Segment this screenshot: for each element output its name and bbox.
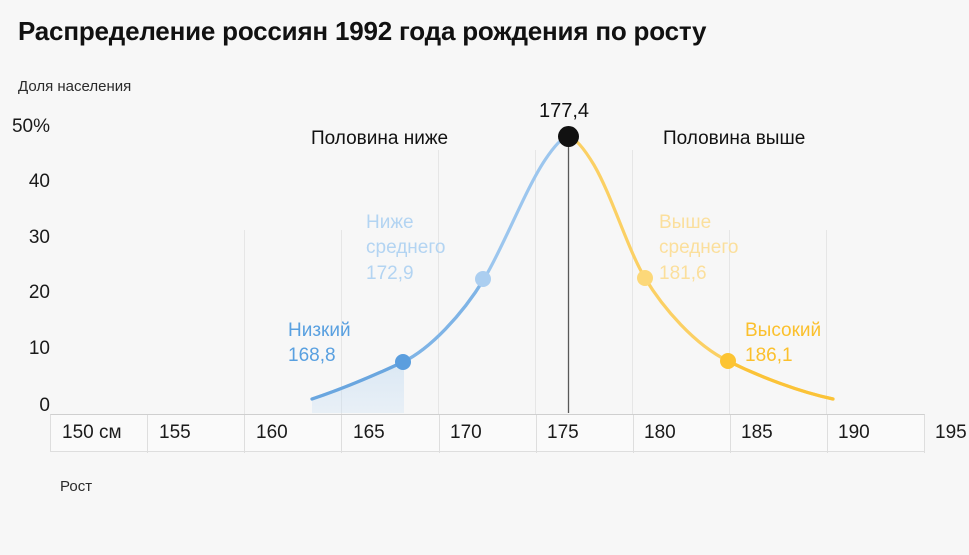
- x-tick-185: 185: [741, 422, 773, 444]
- marker-dot-above-average: [637, 270, 653, 286]
- x-axis-separator: [341, 415, 342, 453]
- x-axis-separator: [924, 415, 925, 453]
- curve-below-average-accent: [403, 279, 484, 362]
- x-tick-160: 160: [256, 422, 288, 444]
- annotation-half-below: Половина ниже: [311, 126, 448, 151]
- x-axis-separator: [147, 415, 148, 453]
- annotation-high: Высокий 186,1: [745, 318, 821, 369]
- annotation-low-value: 168,8: [288, 343, 351, 368]
- x-tick-155: 155: [159, 422, 191, 444]
- annotation-above-average: Выше среднего 181,6: [659, 210, 738, 286]
- annotation-low-label: Низкий: [288, 318, 351, 343]
- marker-dot-low: [395, 354, 411, 370]
- x-axis-caption: Рост: [60, 478, 92, 495]
- x-axis-separator: [439, 415, 440, 453]
- annotation-below-average: Ниже среднего 172,9: [366, 210, 445, 286]
- x-tick-170: 170: [450, 422, 482, 444]
- annotation-high-value: 186,1: [745, 343, 821, 368]
- x-tick-195: 195: [935, 422, 967, 444]
- annotation-high-label: Высокий: [745, 318, 821, 343]
- annotation-half-above: Половина выше: [663, 126, 805, 151]
- annotation-above-average-line1: Выше: [659, 210, 738, 235]
- annotation-below-average-value: 172,9: [366, 261, 445, 286]
- annotation-below-average-line2: среднего: [366, 235, 445, 260]
- x-tick-165: 165: [353, 422, 385, 444]
- marker-dot-median: [558, 126, 579, 147]
- annotation-median-value: 177,4: [539, 98, 589, 125]
- x-axis-separator: [730, 415, 731, 453]
- x-tick-150: 150 см: [62, 422, 122, 444]
- x-tick-175: 175: [547, 422, 579, 444]
- x-axis-separator: [244, 415, 245, 453]
- annotation-below-average-line1: Ниже: [366, 210, 445, 235]
- x-axis-separator: [633, 415, 634, 453]
- annotation-above-average-line2: среднего: [659, 235, 738, 260]
- x-tick-180: 180: [644, 422, 676, 444]
- x-axis-separator: [827, 415, 828, 453]
- annotation-low: Низкий 168,8: [288, 318, 351, 369]
- chart-root: Распределение россиян 1992 года рождения…: [0, 0, 969, 555]
- marker-dot-high: [720, 353, 736, 369]
- x-tick-190: 190: [838, 422, 870, 444]
- marker-dot-below-average: [475, 271, 491, 287]
- annotation-above-average-value: 181,6: [659, 261, 738, 286]
- x-axis-separator: [536, 415, 537, 453]
